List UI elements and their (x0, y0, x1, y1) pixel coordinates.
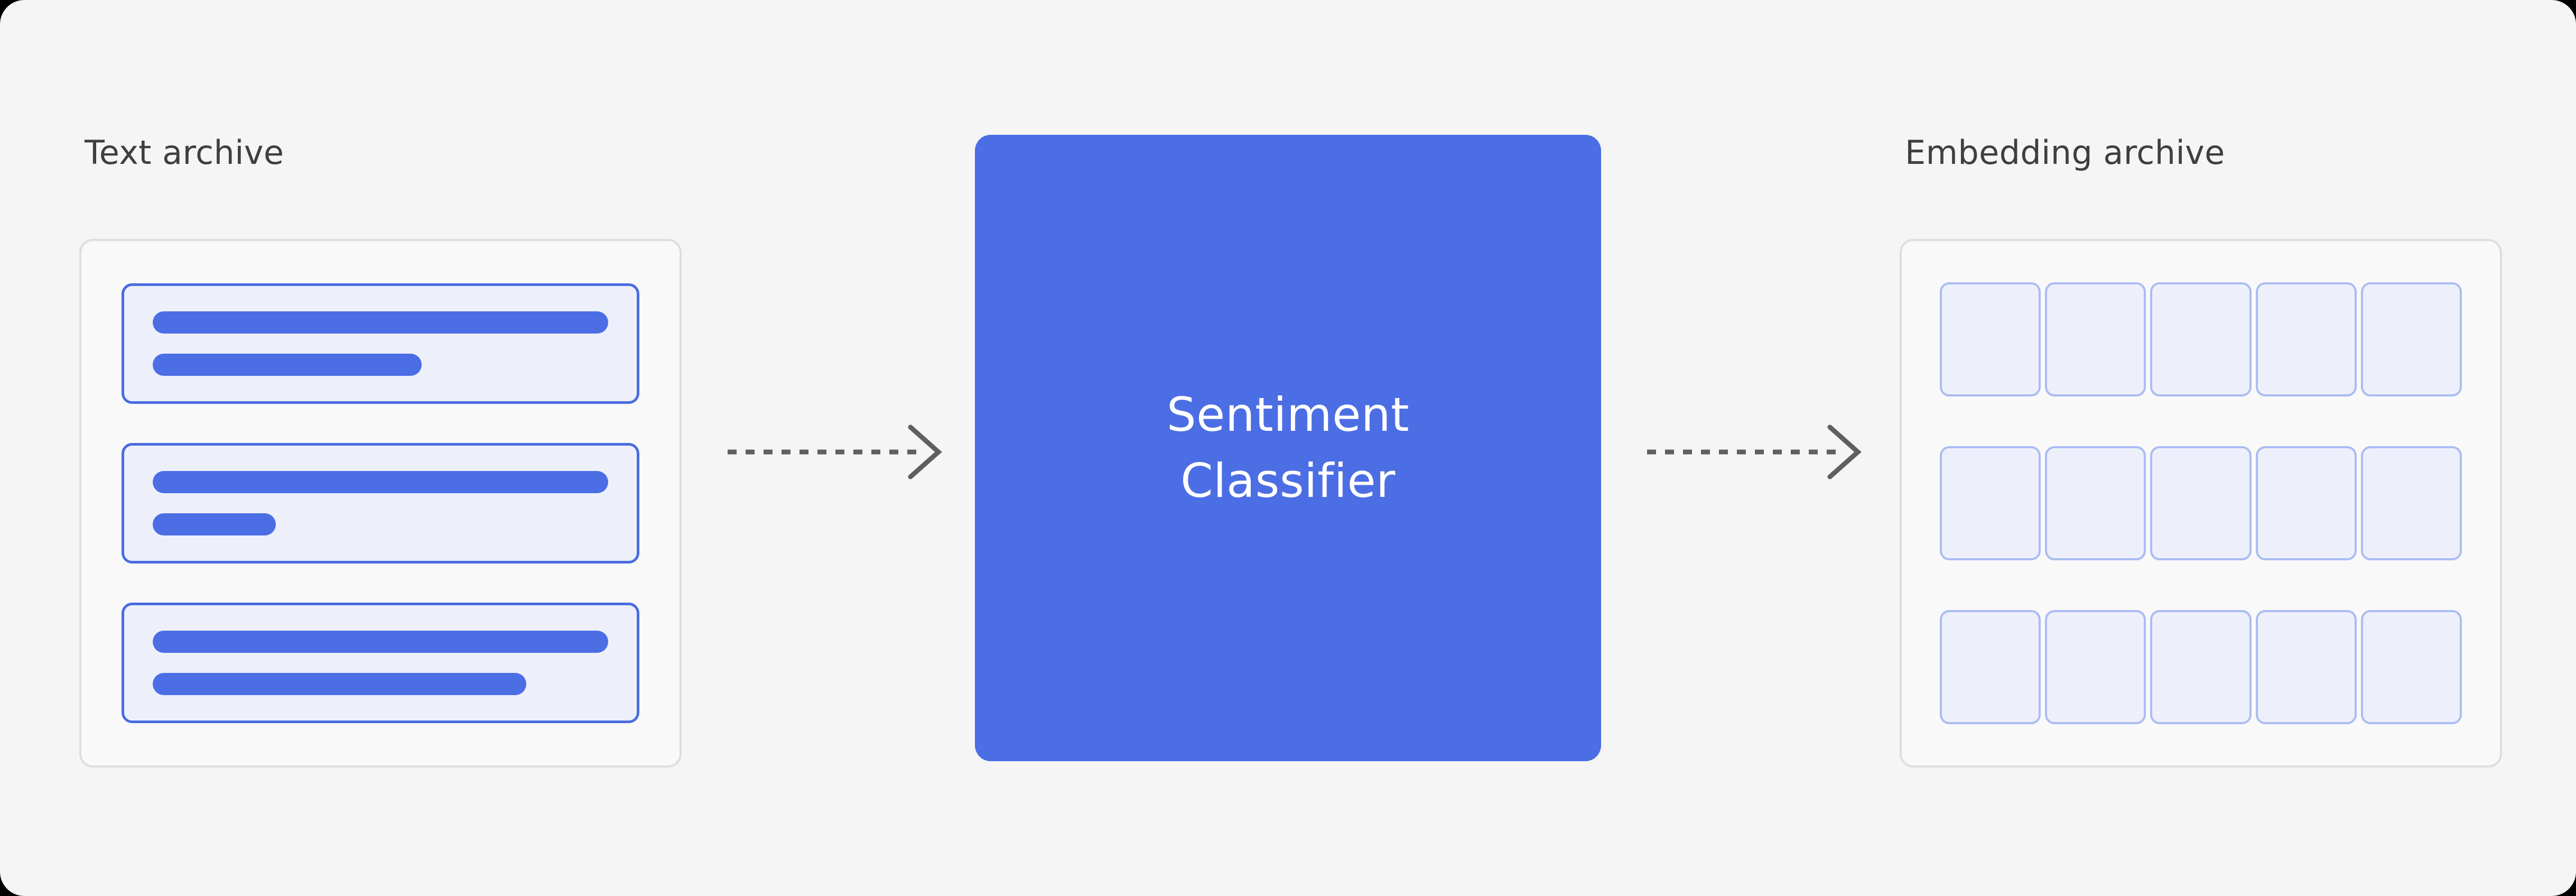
embedding-cell[interactable] (2150, 446, 2251, 560)
embedding-cell[interactable] (2256, 610, 2357, 724)
embedding-cell[interactable] (2256, 446, 2357, 560)
diagram-canvas: Text archive Sentiment Classifier (0, 0, 2576, 896)
document-list (122, 283, 639, 723)
document-text-line (153, 631, 608, 653)
embedding-grid (1940, 282, 2462, 724)
embedding-archive-title: Embedding archive (1905, 133, 2225, 172)
embedding-row (1940, 282, 2462, 396)
document-text-line (153, 471, 608, 493)
classifier-label-line-2: Classifier (1167, 448, 1409, 514)
document-text-line (153, 354, 422, 376)
embedding-cell[interactable] (2256, 282, 2357, 396)
sentiment-classifier-label: Sentiment Classifier (1167, 382, 1409, 514)
embedding-cell[interactable] (2045, 446, 2146, 560)
embedding-cell[interactable] (2150, 610, 2251, 724)
document-text-line (153, 673, 526, 695)
classifier-label-line-1: Sentiment (1167, 382, 1409, 448)
document-text-line (153, 311, 608, 334)
embedding-cell[interactable] (2150, 282, 2251, 396)
text-archive-title: Text archive (85, 133, 284, 172)
embedding-cell[interactable] (2045, 282, 2146, 396)
embedding-archive-panel (1900, 239, 2502, 768)
document-card-2[interactable] (122, 443, 639, 564)
embedding-cell[interactable] (2045, 610, 2146, 724)
embedding-row (1940, 610, 2462, 724)
document-card-3[interactable] (122, 603, 639, 723)
sentiment-classifier-block[interactable]: Sentiment Classifier (975, 135, 1601, 761)
document-text-line (153, 513, 276, 535)
embedding-cell[interactable] (1940, 610, 2041, 724)
arrow-classifier-to-embedding-icon (1646, 423, 1868, 481)
arrow-text-to-classifier-icon (727, 423, 948, 481)
document-card-1[interactable] (122, 283, 639, 404)
embedding-cell[interactable] (2361, 446, 2462, 560)
text-archive-panel (79, 239, 682, 768)
embedding-cell[interactable] (2361, 282, 2462, 396)
embedding-cell[interactable] (1940, 282, 2041, 396)
embedding-row (1940, 446, 2462, 560)
embedding-cell[interactable] (1940, 446, 2041, 560)
embedding-cell[interactable] (2361, 610, 2462, 724)
